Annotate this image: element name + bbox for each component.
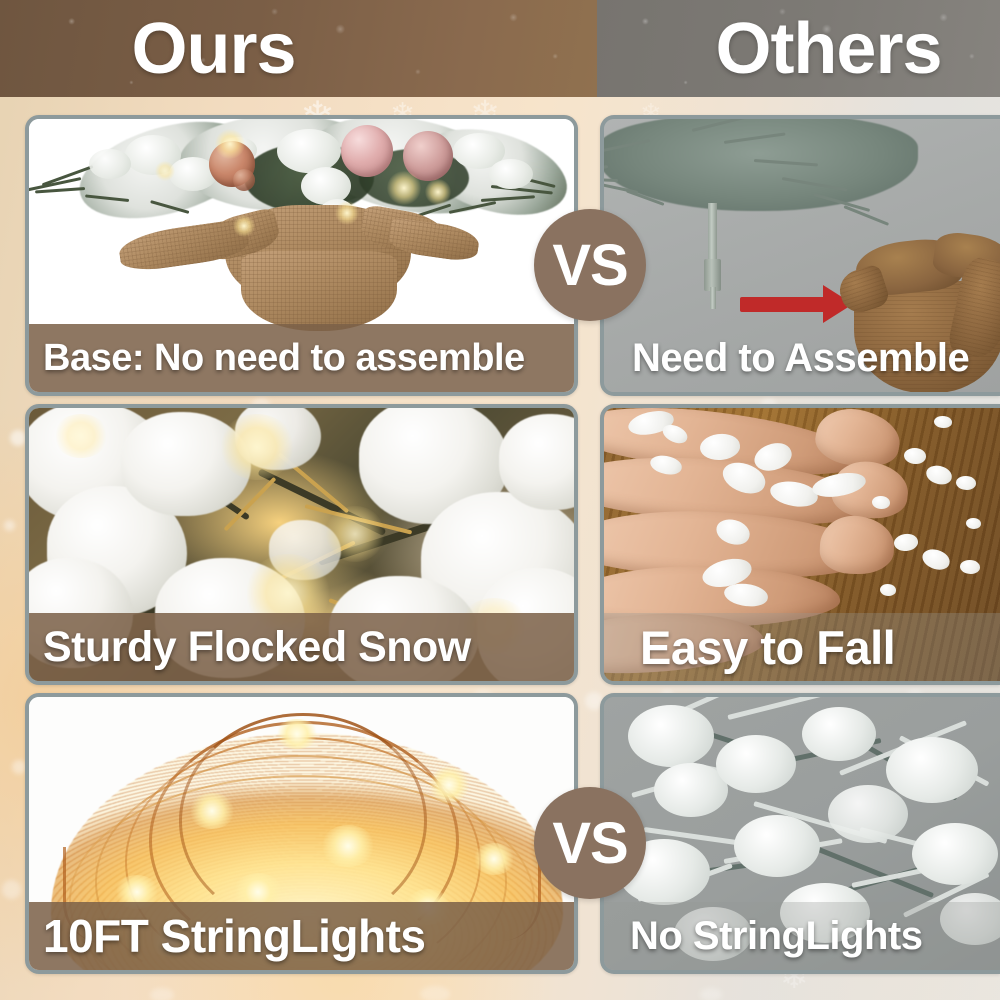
panel-others-no-string-lights[interactable]: No StringLights [600, 693, 1000, 974]
snow-texture-icon [0, 0, 597, 97]
comparison-row-string-lights: 10FT StringLights [0, 693, 1000, 974]
vs-badge-label: VS [552, 810, 627, 877]
vs-badge-row-1: VS [534, 209, 646, 321]
panel-ours-flocked-snow[interactable]: Sturdy Flocked Snow [25, 404, 578, 685]
header-bar: Ours Others [0, 0, 1000, 97]
panel-ours-string-lights[interactable]: 10FT StringLights [25, 693, 578, 974]
panel-ours-base-assembly[interactable]: Base: No need to assemble [25, 115, 578, 396]
caption-ours-flocked-snow: Sturdy Flocked Snow [29, 613, 574, 681]
comparison-row-flocked-snow: Sturdy Flocked Snow [0, 404, 1000, 685]
vs-badge-label: VS [552, 232, 627, 299]
comparison-infographic: ❄ ❄ ❄ ❄ ❄ ❄ Ours Others [0, 0, 1000, 1000]
caption-others-easy-to-fall: Easy to Fall [604, 613, 1000, 681]
caption-others-no-string-lights: No StringLights [604, 902, 1000, 970]
header-title-ours: Ours [131, 8, 295, 90]
comparison-row-base-assembly: Base: No need to assemble [0, 115, 1000, 396]
header-cell-others: Others [597, 0, 1000, 97]
caption-ours-string-lights: 10FT StringLights [29, 902, 574, 970]
panel-others-base-assembly[interactable]: Need to Assemble [600, 115, 1000, 396]
caption-ours-base-assembly: Base: No need to assemble [29, 324, 574, 392]
header-title-others: Others [715, 8, 941, 90]
panel-others-easy-to-fall[interactable]: Easy to Fall [600, 404, 1000, 685]
header-cell-ours: Ours [0, 0, 597, 97]
caption-others-base-assembly: Need to Assemble [604, 324, 1000, 392]
comparison-grid: Base: No need to assemble [0, 97, 1000, 1000]
vs-badge-row-2: VS [534, 787, 646, 899]
